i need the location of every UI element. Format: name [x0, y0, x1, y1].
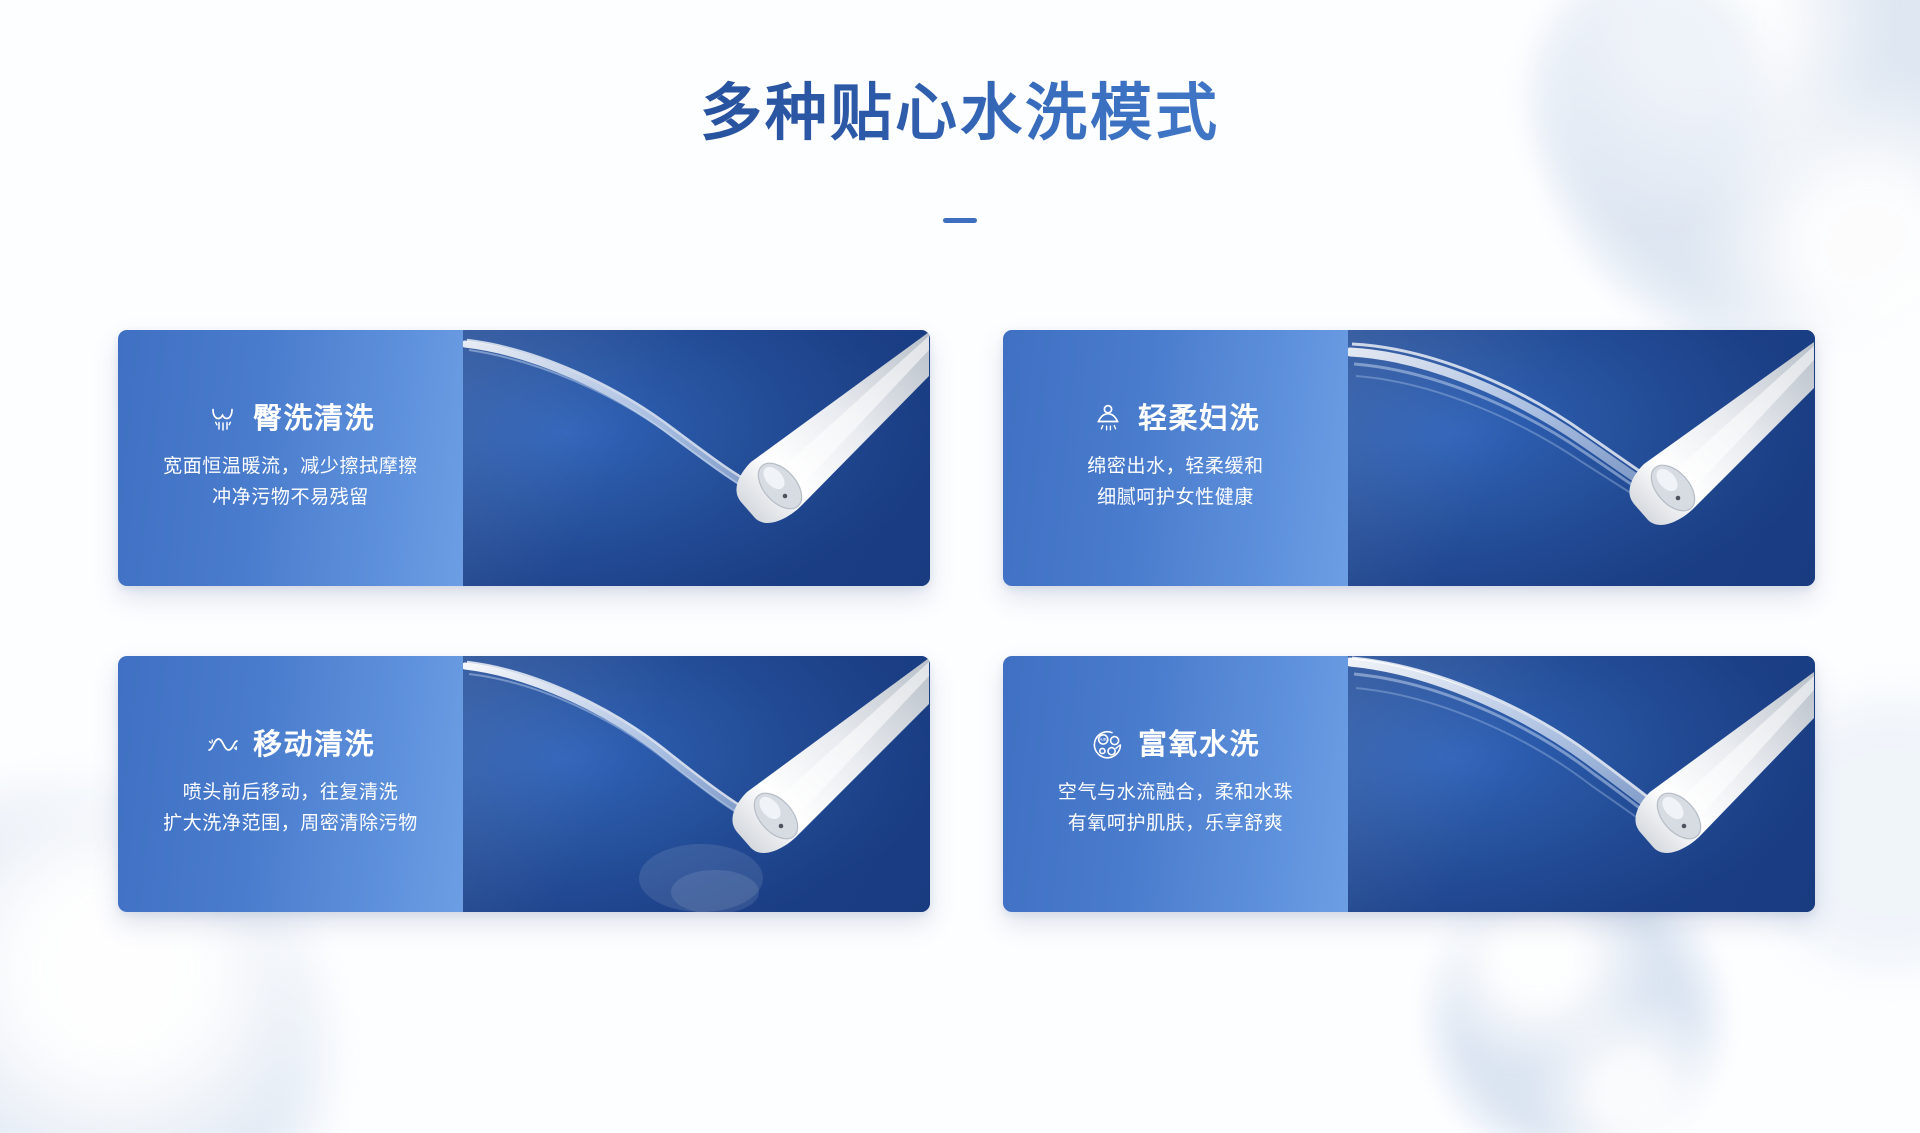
card-header: 臀洗清洗	[206, 402, 375, 436]
card-description-line: 扩大洗净范围，周密清除污物	[163, 809, 418, 840]
card-header: AIR 富氧水洗	[1091, 728, 1260, 762]
gentle-feminine-wash-icon	[1091, 402, 1125, 436]
air-oxygen-wash-icon: AIR	[1091, 728, 1125, 762]
card-description: 空气与水流融合，柔和水珠 有氧呵护肌肤，乐享舒爽	[1058, 778, 1293, 840]
page-heading-area: 多种贴心水洗模式	[0, 78, 1920, 149]
wash-mode-card[interactable]: AIR 富氧水洗 空气与水流融合，柔和水珠 有氧呵护肌肤，乐享舒爽	[1003, 656, 1815, 912]
product-photo	[1348, 656, 1815, 912]
nozzle-spray-illustration	[1348, 330, 1815, 586]
nozzle-spray-illustration	[463, 656, 930, 912]
card-description: 喷头前后移动，往复清洗 扩大洗净范围，周密清除污物	[163, 778, 418, 840]
nozzle-spray-illustration	[1348, 656, 1815, 912]
nozzle-spray-illustration	[463, 330, 930, 586]
card-description-line: 空气与水流融合，柔和水珠	[1058, 778, 1293, 809]
product-photo	[463, 656, 930, 912]
card-title: 轻柔妇洗	[1138, 405, 1260, 434]
card-title: 富氧水洗	[1138, 731, 1260, 760]
card-header: 移动清洗	[206, 728, 375, 762]
card-description: 宽面恒温暖流，减少擦拭摩擦 冲净污物不易残留	[163, 452, 418, 514]
wash-mode-card[interactable]: 移动清洗 喷头前后移动，往复清洗 扩大洗净范围，周密清除污物	[118, 656, 930, 912]
card-title: 移动清洗	[253, 731, 375, 760]
card-info-panel: AIR 富氧水洗 空气与水流融合，柔和水珠 有氧呵护肌肤，乐享舒爽	[1003, 656, 1348, 912]
card-header: 轻柔妇洗	[1091, 402, 1260, 436]
card-info-panel: 移动清洗 喷头前后移动，往复清洗 扩大洗净范围，周密清除污物	[118, 656, 463, 912]
card-description-line: 冲净污物不易残留	[163, 483, 418, 514]
air-icon-label: AIR	[1100, 737, 1107, 742]
bubble-top-right-icon	[1540, 0, 1920, 350]
card-description-line: 有氧呵护肌肤，乐享舒爽	[1058, 809, 1293, 840]
card-info-panel: 轻柔妇洗 绵密出水，轻柔缓和 细腻呵护女性健康	[1003, 330, 1348, 586]
bidet-rear-wash-icon	[206, 402, 240, 436]
product-photo	[1348, 330, 1815, 586]
wash-mode-card[interactable]: 轻柔妇洗 绵密出水，轻柔缓和 细腻呵护女性健康	[1003, 330, 1815, 586]
card-description-line: 喷头前后移动，往复清洗	[163, 778, 418, 809]
card-description-line: 细腻呵护女性健康	[1087, 483, 1263, 514]
card-title: 臀洗清洗	[253, 405, 375, 434]
wash-mode-card[interactable]: 臀洗清洗 宽面恒温暖流，减少擦拭摩擦 冲净污物不易残留	[118, 330, 930, 586]
card-description-line: 绵密出水，轻柔缓和	[1087, 452, 1263, 483]
card-info-panel: 臀洗清洗 宽面恒温暖流，减少擦拭摩擦 冲净污物不易残留	[118, 330, 463, 586]
wash-modes-grid: 臀洗清洗 宽面恒温暖流，减少擦拭摩擦 冲净污物不易残留	[118, 330, 1815, 912]
moving-wash-wave-icon	[206, 728, 240, 762]
card-description: 绵密出水，轻柔缓和 细腻呵护女性健康	[1087, 452, 1263, 514]
promo-page: 多种贴心水洗模式 臀洗清洗 宽面恒温暖流，减少擦拭摩擦 冲净污物不易残留	[0, 0, 1920, 1133]
card-description-line: 宽面恒温暖流，减少擦拭摩擦	[163, 452, 418, 483]
page-title: 多种贴心水洗模式	[700, 78, 1220, 149]
product-photo	[463, 330, 930, 586]
title-divider	[943, 218, 977, 223]
